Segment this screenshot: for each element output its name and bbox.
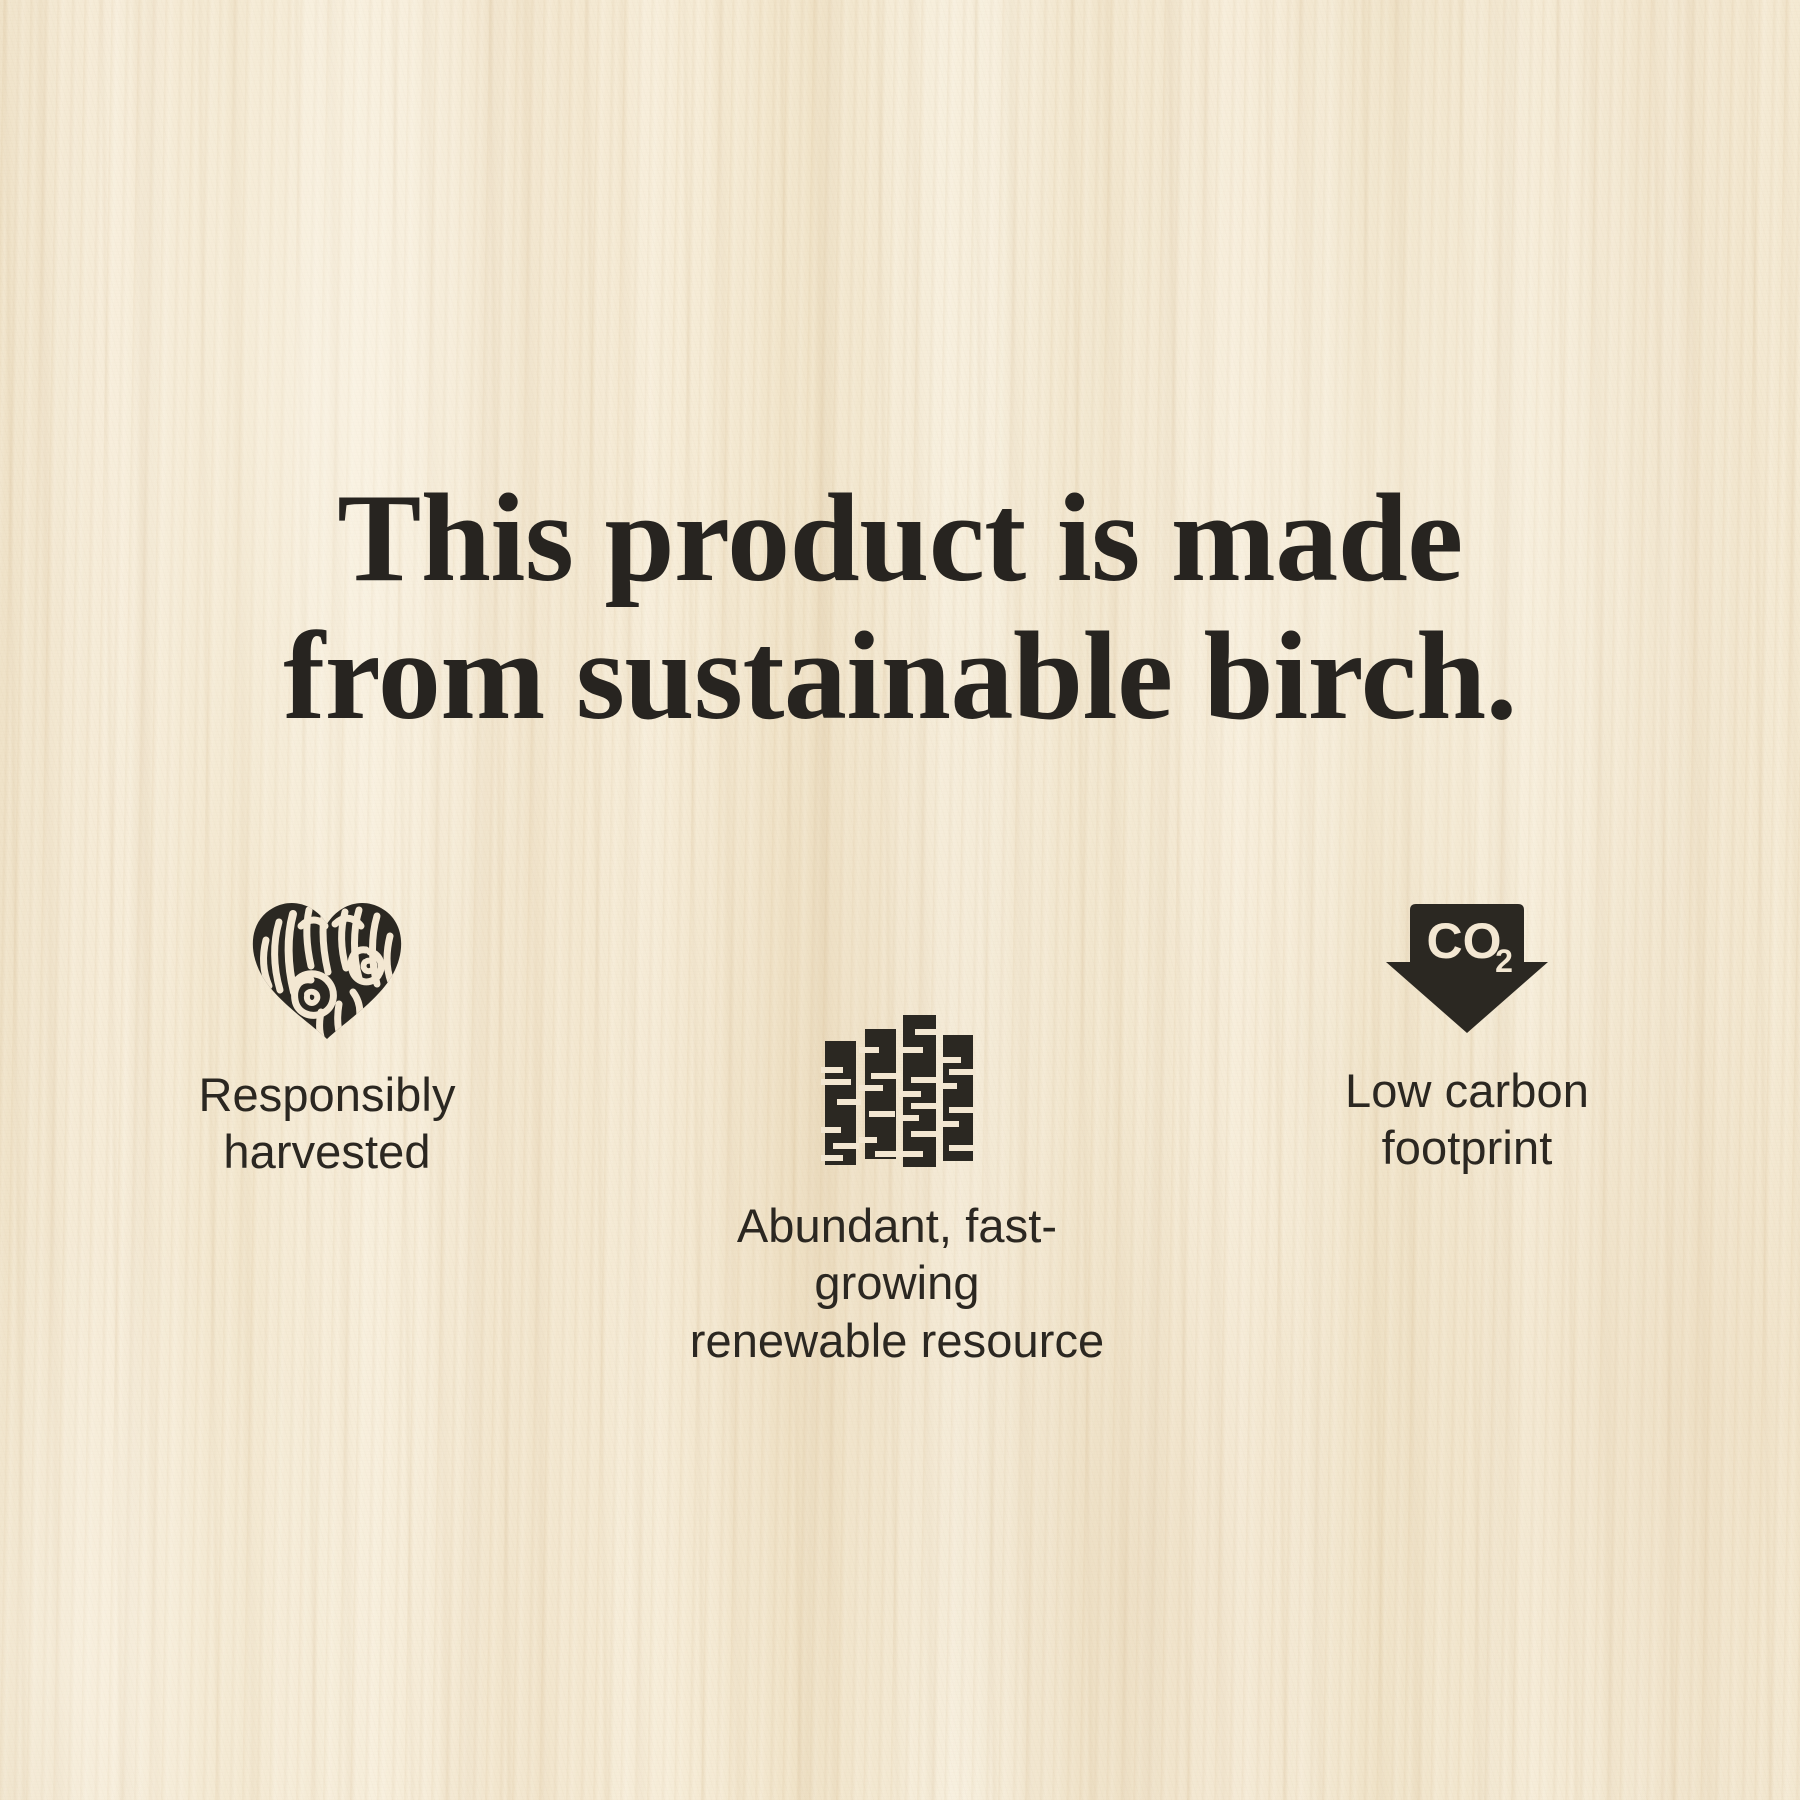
svg-text:CO: CO	[1427, 913, 1502, 969]
feature-responsibly-harvested: Responsibly harvested	[112, 900, 542, 1181]
sustainability-poster: This product is made from sustainable bi…	[0, 0, 1800, 1800]
page-title: This product is made from sustainable bi…	[0, 470, 1800, 745]
wood-grain-heart-icon	[249, 900, 405, 1040]
feature-label-responsibly-harvested: Responsibly harvested	[198, 1066, 455, 1181]
feature-low-carbon-footprint: CO 2 Low carbon footprint	[1252, 900, 1682, 1177]
poster-content: This product is made from sustainable bi…	[0, 0, 1800, 1800]
co2-down-arrow-icon: CO 2	[1382, 900, 1552, 1036]
birch-trunks-icon	[819, 1015, 975, 1171]
feature-label-renewable-resource: Abundant, fast-growing renewable resourc…	[682, 1197, 1112, 1369]
feature-renewable-resource: Abundant, fast-growing renewable resourc…	[682, 1015, 1112, 1369]
svg-text:2: 2	[1495, 943, 1513, 979]
feature-list: Responsibly harvested	[90, 900, 1710, 1369]
feature-label-low-carbon-footprint: Low carbon footprint	[1345, 1062, 1589, 1177]
